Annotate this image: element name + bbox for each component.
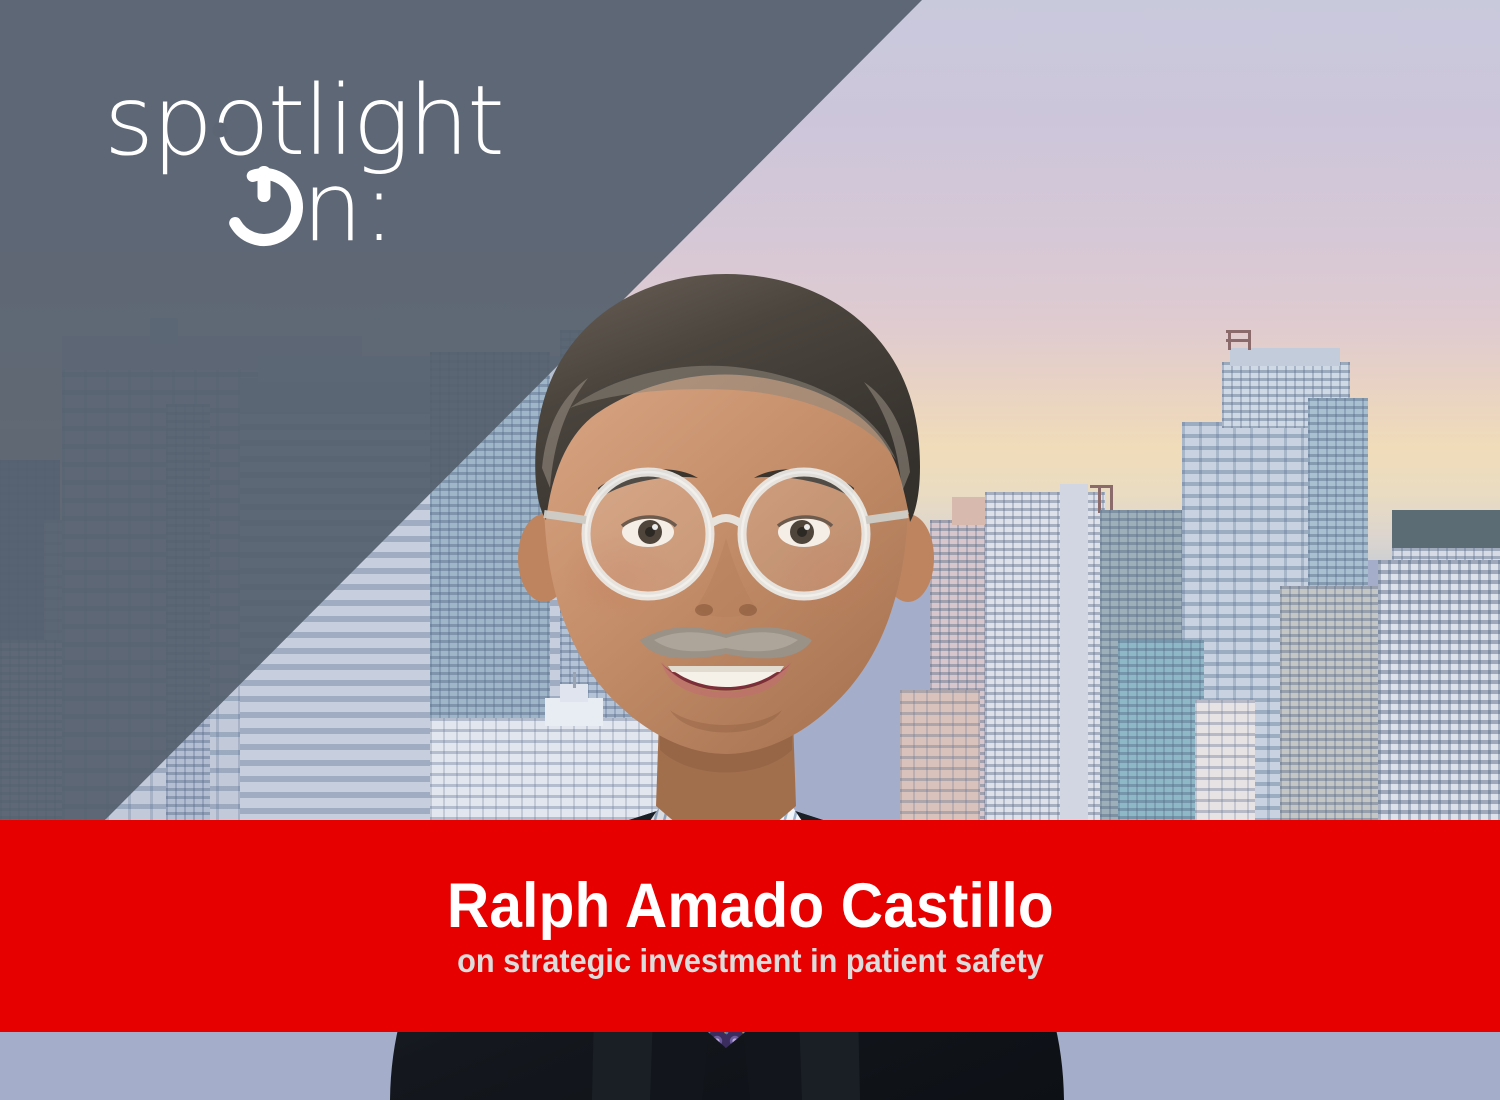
- spotlight-on-card: spotlight n: Ralph Amado Castillo on str…: [0, 0, 1500, 1100]
- spotlight-on-logo: spotlight n:: [104, 74, 574, 264]
- spotlight-dot-icon: [213, 123, 228, 138]
- logo-on-text: n:: [302, 151, 395, 263]
- name-banner: Ralph Amado Castillo on strategic invest…: [0, 820, 1500, 1032]
- guest-name: Ralph Amado Castillo: [446, 874, 1053, 938]
- power-on-icon: [222, 165, 307, 250]
- guest-topic: on strategic investment in patient safet…: [457, 944, 1044, 979]
